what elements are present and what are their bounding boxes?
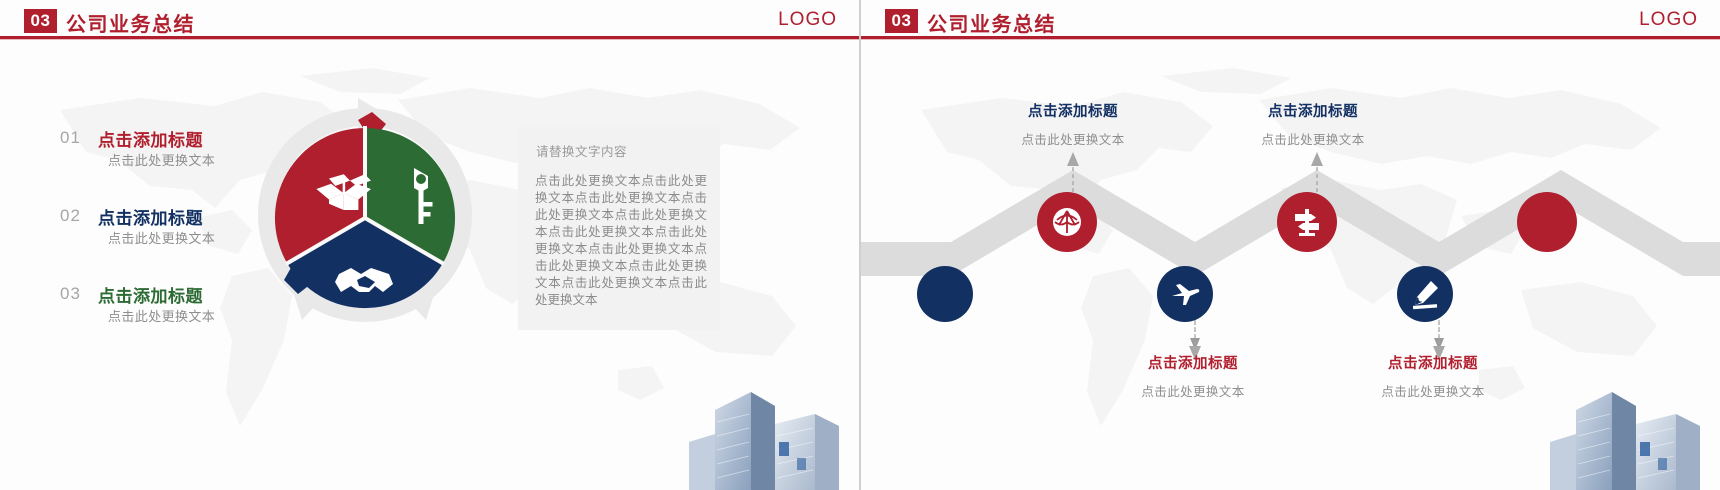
connector-arrows: [1073, 150, 1439, 346]
text-content-panel[interactable]: 请替换文字内容 点击此处更换文本点击此处更换文本点击此处更换文本点击此处更换文本…: [518, 125, 720, 330]
label-title: 点击添加标题: [1218, 100, 1408, 121]
label-top-2[interactable]: 点击添加标题 点击此处更换文本: [1218, 100, 1408, 148]
panel-heading: 请替换文字内容: [536, 141, 627, 160]
header-rule-thin: [861, 39, 1720, 40]
umbrella-icon: [1050, 205, 1084, 239]
list-item-title: 点击添加标题: [98, 204, 203, 229]
node-1[interactable]: [917, 266, 973, 322]
page-title: 公司业务总结: [66, 8, 195, 37]
slide-left: 03 公司业务总结 LOGO 01 点击添加标题 点击此处更换文本 02 点击添…: [0, 0, 859, 490]
list-item-number: 01: [60, 128, 81, 148]
node-2[interactable]: [1037, 192, 1097, 252]
label-title: 点击添加标题: [1098, 352, 1288, 373]
three-segment-pie-diagram[interactable]: [240, 90, 490, 350]
slide-right: 03 公司业务总结 LOGO: [861, 0, 1720, 490]
label-title: 点击添加标题: [1338, 352, 1528, 373]
label-subtitle: 点击此处更换文本: [1338, 381, 1528, 400]
label-subtitle: 点击此处更换文本: [978, 129, 1168, 148]
list-item-title: 点击添加标题: [98, 282, 203, 307]
airplane-icon: [1170, 279, 1200, 309]
node-4[interactable]: [1277, 192, 1337, 252]
list-item-subtitle: 点击此处更换文本: [108, 150, 215, 169]
label-subtitle: 点击此处更换文本: [1098, 381, 1288, 400]
list-item-number: 03: [60, 284, 81, 304]
list-item-number: 02: [60, 206, 81, 226]
fountain-pen-icon: [1409, 278, 1441, 310]
list-item-subtitle: 点击此处更换文本: [108, 306, 215, 325]
label-bottom-1[interactable]: 点击添加标题 点击此处更换文本: [1098, 352, 1288, 400]
logo-placeholder: LOGO: [1639, 9, 1698, 31]
node-3[interactable]: [1157, 266, 1213, 322]
list-item-title: 点击添加标题: [98, 126, 203, 151]
panel-body-text: 点击此处更换文本点击此处更换文本点击此处更换文本点击此处更换文本点击此处更换文本…: [535, 173, 707, 309]
section-number-badge: 03: [885, 9, 918, 33]
label-subtitle: 点击此处更换文本: [1218, 129, 1408, 148]
slide-deck: 03 公司业务总结 LOGO 01 点击添加标题 点击此处更换文本 02 点击添…: [0, 0, 1720, 490]
office-buildings-photo: [679, 380, 859, 490]
list-item-subtitle: 点击此处更换文本: [108, 228, 215, 247]
page-title: 公司业务总结: [927, 8, 1056, 37]
logo-placeholder: LOGO: [778, 9, 837, 31]
signpost-icon: [1291, 206, 1323, 238]
label-bottom-2[interactable]: 点击添加标题 点击此处更换文本: [1338, 352, 1528, 400]
slide-header: 03 公司业务总结 LOGO: [0, 0, 859, 40]
section-number-badge: 03: [24, 9, 57, 33]
node-6[interactable]: [1517, 192, 1577, 252]
label-top-1[interactable]: 点击添加标题 点击此处更换文本: [978, 100, 1168, 148]
slide-header: 03 公司业务总结 LOGO: [861, 0, 1720, 40]
node-5[interactable]: [1397, 266, 1453, 322]
header-rule-thin: [0, 39, 859, 40]
office-buildings-photo: [1540, 380, 1720, 490]
label-title: 点击添加标题: [978, 100, 1168, 121]
zigzag-process-path: [861, 150, 1720, 350]
